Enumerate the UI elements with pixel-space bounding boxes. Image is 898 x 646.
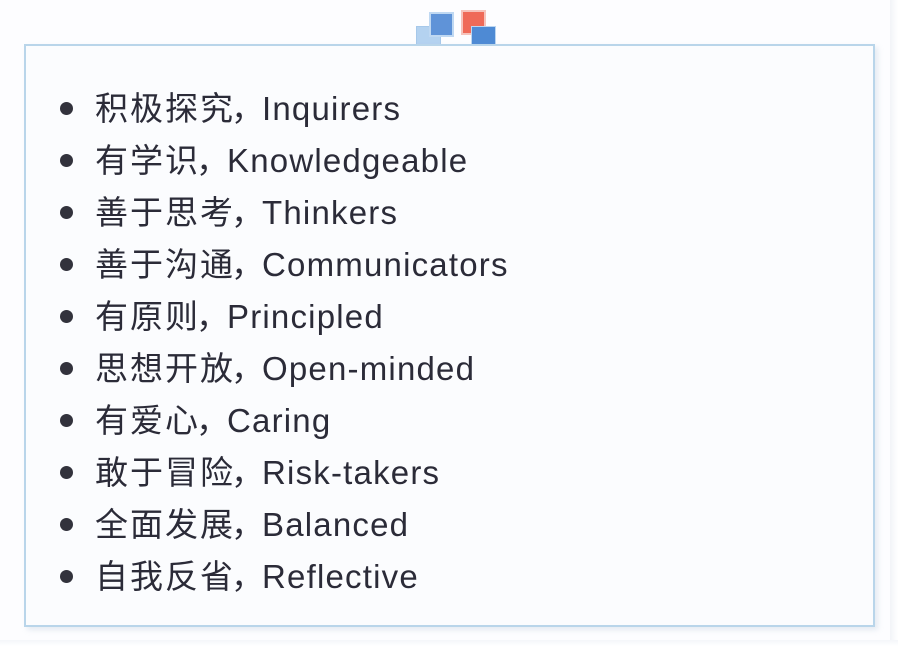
list-item-english: Knowledgeable	[227, 142, 468, 179]
list-item: 有爱心，Caring	[60, 394, 509, 446]
page-edge-right	[890, 0, 898, 646]
list-item-english: Principled	[227, 298, 384, 335]
list-item-label: 自我反省，Reflective	[95, 560, 419, 593]
list-item-label: 善于沟通，Communicators	[95, 248, 509, 281]
list-item-english: Caring	[227, 402, 331, 439]
list-item-english: Balanced	[262, 506, 409, 543]
list-item-separator: ，	[196, 298, 229, 335]
list-item-chinese: 有原则	[95, 298, 200, 335]
learner-profile-list: 积极探究，Inquirers 有学识，Knowledgeable 善于思考，Th…	[60, 82, 509, 602]
bullet-icon	[60, 570, 73, 583]
list-item-label: 有爱心，Caring	[95, 404, 331, 437]
list-item: 善于思考，Thinkers	[60, 186, 509, 238]
list-item-chinese: 自我反省	[95, 558, 235, 595]
list-item-english: Thinkers	[262, 194, 398, 231]
list-item-separator: ，	[196, 402, 229, 439]
list-item-separator: ，	[231, 558, 264, 595]
bullet-icon	[60, 310, 73, 323]
list-item: 思想开放，Open-minded	[60, 342, 509, 394]
list-item: 全面发展，Balanced	[60, 498, 509, 550]
list-item-chinese: 全面发展	[95, 506, 235, 543]
bullet-icon	[60, 258, 73, 271]
list-item-english: Reflective	[262, 558, 419, 595]
blue-square-top-icon	[429, 12, 454, 37]
page-edge-bottom	[0, 640, 898, 646]
bullet-icon	[60, 102, 73, 115]
list-item-separator: ，	[231, 194, 264, 231]
list-item-separator: ，	[231, 90, 264, 127]
list-item-chinese: 有学识	[95, 142, 200, 179]
content-frame: 积极探究，Inquirers 有学识，Knowledgeable 善于思考，Th…	[24, 44, 875, 627]
bullet-icon	[60, 518, 73, 531]
list-item-chinese: 善于沟通	[95, 246, 235, 283]
bullet-icon	[60, 206, 73, 219]
bullet-icon	[60, 362, 73, 375]
list-item-label: 思想开放，Open-minded	[95, 352, 475, 385]
bullet-icon	[60, 414, 73, 427]
list-item-separator: ，	[231, 454, 264, 491]
list-item-label: 善于思考，Thinkers	[95, 196, 398, 229]
list-item: 有原则，Principled	[60, 290, 509, 342]
list-item-chinese: 积极探究	[95, 90, 235, 127]
list-item-english: Inquirers	[262, 90, 401, 127]
list-item: 积极探究，Inquirers	[60, 82, 509, 134]
list-item-english: Risk-takers	[262, 454, 440, 491]
list-item-chinese: 敢于冒险	[95, 454, 235, 491]
bullet-icon	[60, 154, 73, 167]
screenshot-canvas: 积极探究，Inquirers 有学识，Knowledgeable 善于思考，Th…	[0, 0, 898, 646]
list-item-separator: ，	[231, 350, 264, 387]
list-item: 敢于冒险，Risk-takers	[60, 446, 509, 498]
list-item-chinese: 有爱心	[95, 402, 200, 439]
list-item: 有学识，Knowledgeable	[60, 134, 509, 186]
list-item: 自我反省，Reflective	[60, 550, 509, 602]
list-item: 善于沟通，Communicators	[60, 238, 509, 290]
list-item-label: 全面发展，Balanced	[95, 508, 409, 541]
list-item-label: 有学识，Knowledgeable	[95, 144, 468, 177]
list-item-chinese: 思想开放	[95, 350, 235, 387]
list-item-separator: ，	[196, 142, 229, 179]
list-item-label: 积极探究，Inquirers	[95, 92, 401, 125]
list-item-separator: ，	[231, 506, 264, 543]
list-item-separator: ，	[231, 246, 264, 283]
list-item-chinese: 善于思考	[95, 194, 235, 231]
list-item-english: Open-minded	[262, 350, 475, 387]
list-item-english: Communicators	[262, 246, 509, 283]
list-item-label: 有原则，Principled	[95, 300, 384, 333]
list-item-label: 敢于冒险，Risk-takers	[95, 456, 440, 489]
bullet-icon	[60, 466, 73, 479]
